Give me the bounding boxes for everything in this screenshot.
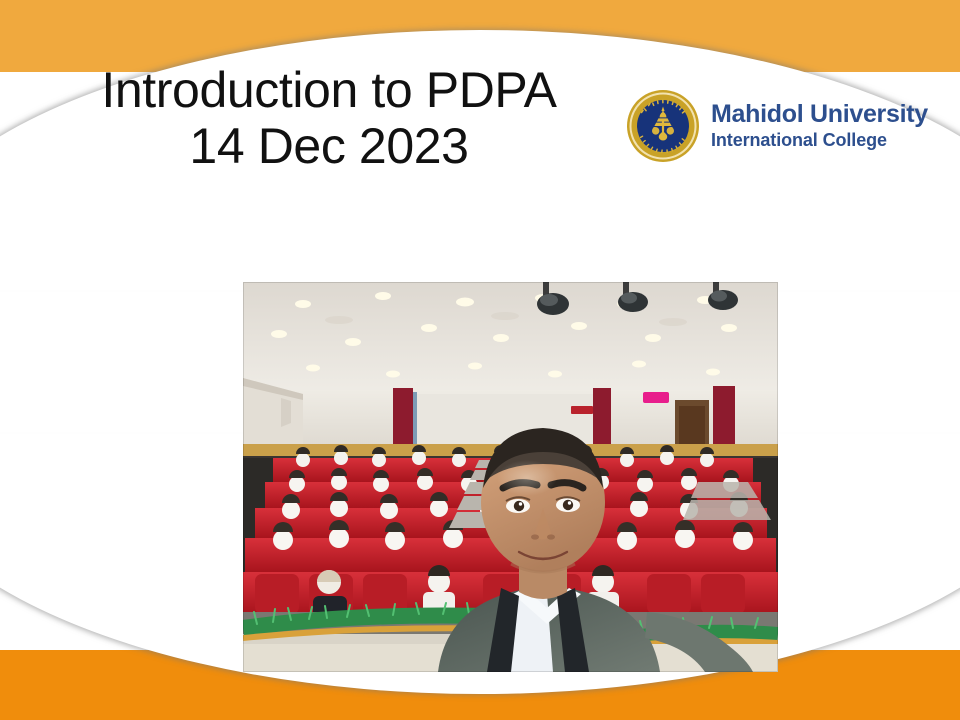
mahidol-logo: Mahidol University International College xyxy=(626,86,948,166)
title-line-date: 14 Dec 2023 xyxy=(46,118,612,174)
logo-university-name: Mahidol University xyxy=(711,101,928,128)
slide-title: Introduction to PDPA 14 Dec 2023 xyxy=(46,62,612,174)
mahidol-seal-icon xyxy=(626,89,700,163)
auditorium-selfie-photo xyxy=(243,282,778,672)
title-line-primary: Introduction to PDPA xyxy=(46,62,612,118)
slide-canvas: Introduction to PDPA 14 Dec 2023 xyxy=(0,0,960,720)
logo-college-name: International College xyxy=(711,130,928,151)
logo-wordmark: Mahidol University International College xyxy=(711,101,928,151)
